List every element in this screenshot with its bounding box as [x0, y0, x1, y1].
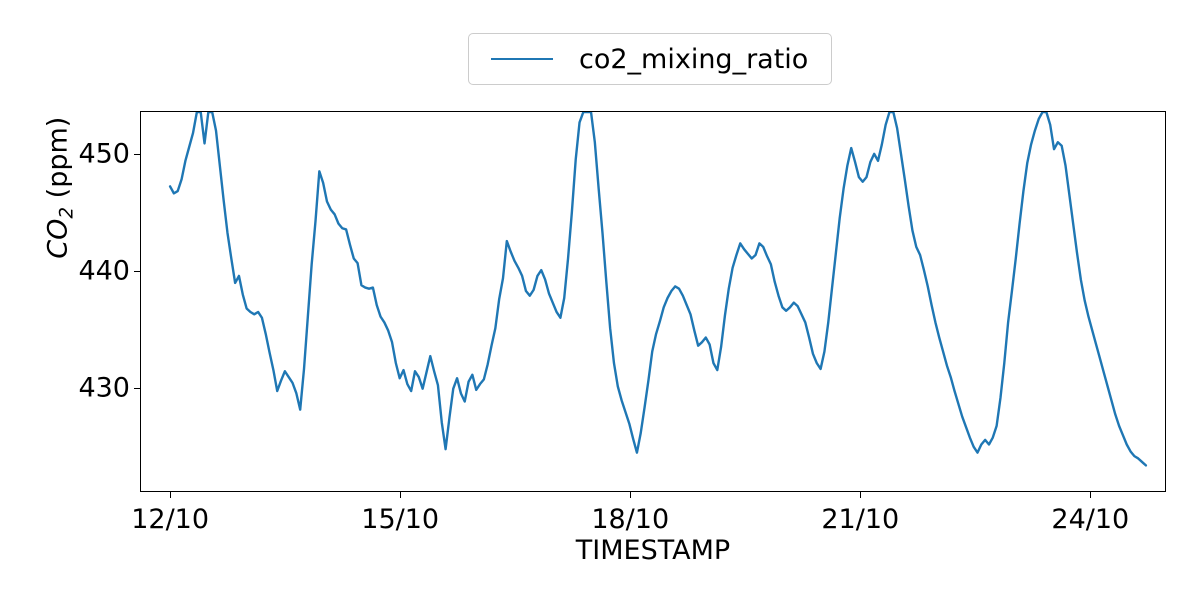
- x-tick-label: 18/10: [591, 504, 669, 535]
- y-tick-label: 450: [78, 139, 130, 170]
- x-tick-mark: [630, 491, 631, 498]
- y-axis-label-symbol: CO: [42, 219, 73, 259]
- figure-canvas: 450 440 430 12/10 15/10 18/10 21/10 24/1…: [0, 0, 1200, 600]
- x-tick-label: 15/10: [361, 504, 439, 535]
- y-axis-label-units: (ppm): [42, 117, 73, 199]
- y-tick-mark: [134, 388, 141, 389]
- plot-area: 450 440 430 12/10 15/10 18/10 21/10 24/1…: [140, 111, 1166, 492]
- line-series-svg: [141, 112, 1165, 491]
- y-tick-mark: [134, 154, 141, 155]
- series-co2-mixing-ratio: [170, 112, 1146, 465]
- x-tick-mark: [400, 491, 401, 498]
- y-tick-label: 430: [78, 372, 130, 403]
- legend-line-swatch: [491, 58, 553, 60]
- y-tick-label: 440: [78, 255, 130, 286]
- x-tick-mark: [860, 491, 861, 498]
- legend-box: co2_mixing_ratio: [468, 33, 832, 85]
- y-tick-mark: [134, 271, 141, 272]
- x-tick-label: 21/10: [821, 504, 899, 535]
- x-tick-label: 12/10: [131, 504, 209, 535]
- x-axis-label: TIMESTAMP: [140, 535, 1166, 566]
- x-tick-label: 24/10: [1051, 504, 1129, 535]
- x-tick-mark: [1090, 491, 1091, 498]
- y-axis-label-subscript: 2: [57, 207, 78, 219]
- legend-entry-label: co2_mixing_ratio: [579, 44, 808, 75]
- x-tick-mark: [170, 491, 171, 498]
- y-axis-label: CO2 (ppm): [42, 0, 77, 398]
